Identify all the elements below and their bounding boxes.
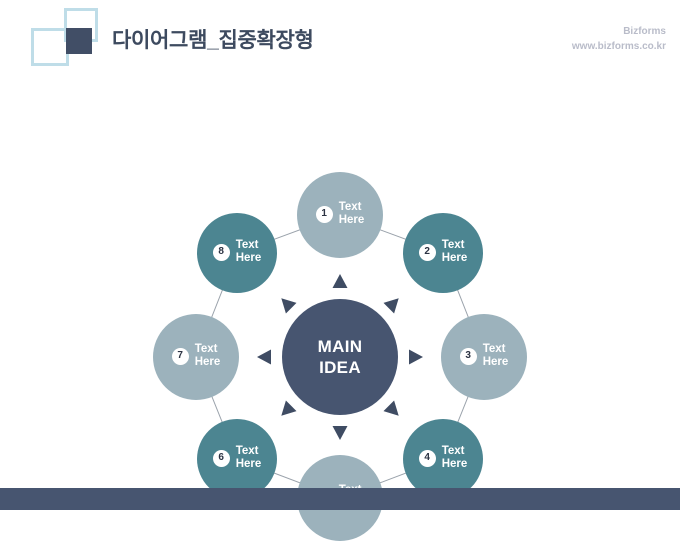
node-number-badge: 8 (213, 244, 230, 261)
node-label: Text Here (195, 343, 221, 369)
node-number-badge: 2 (419, 244, 436, 261)
outer-node-8[interactable]: 8Text Here (197, 213, 277, 293)
page-title: 다이어그램_집중확장형 (112, 24, 314, 54)
logo-square-solid (66, 28, 92, 54)
outer-node-content: 4Text Here (419, 445, 468, 471)
node-label: Text Here (442, 445, 468, 471)
outer-node-content: 8Text Here (213, 239, 262, 265)
node-number-badge: 1 (316, 206, 333, 223)
node-label: Text Here (236, 239, 262, 265)
outer-node-content: 6Text Here (213, 445, 262, 471)
outer-node-6[interactable]: 6Text Here (197, 419, 277, 499)
brand-name: Bizforms (572, 24, 666, 39)
center-arrows (0, 78, 680, 488)
node-label: Text Here (236, 445, 262, 471)
arrow-right-icon (409, 350, 423, 365)
page-header: 다이어그램_집중확장형 Bizforms www.bizforms.co.kr (0, 0, 680, 78)
node-number-badge: 6 (213, 450, 230, 467)
outer-node-content: 7Text Here (172, 343, 221, 369)
node-number-badge: 7 (172, 348, 189, 365)
arrow-up-right-icon (383, 293, 404, 314)
node-number-badge: 4 (419, 450, 436, 467)
outer-node-content: 1Text Here (316, 201, 365, 227)
outer-node-3[interactable]: 3Text Here (441, 314, 527, 400)
node-label: Text Here (339, 201, 365, 227)
center-node-label: MAIN IDEA (318, 336, 363, 379)
bizforms-logo (14, 8, 110, 66)
outer-node-content: 3Text Here (460, 343, 509, 369)
arrow-down-icon (333, 426, 348, 440)
diagram-stage: MAIN IDEA 1Text Here2Text Here3Text Here… (0, 78, 680, 488)
arrow-down-right-icon (383, 400, 404, 421)
node-number-badge: 3 (460, 348, 477, 365)
footer-bar (0, 488, 680, 510)
brand-block: Bizforms www.bizforms.co.kr (572, 24, 666, 54)
center-node-main-idea[interactable]: MAIN IDEA (282, 299, 398, 415)
arrow-down-left-icon (276, 400, 297, 421)
outer-node-4[interactable]: 4Text Here (403, 419, 483, 499)
arrow-up-left-icon (276, 293, 297, 314)
outer-node-2[interactable]: 2Text Here (403, 213, 483, 293)
brand-url[interactable]: www.bizforms.co.kr (572, 39, 666, 54)
outer-node-content: 2Text Here (419, 239, 468, 265)
outer-node-1[interactable]: 1Text Here (297, 172, 383, 258)
node-label: Text Here (442, 239, 468, 265)
node-label: Text Here (483, 343, 509, 369)
logo-square-outline-bottom (31, 28, 69, 66)
arrow-left-icon (257, 350, 271, 365)
arrow-up-icon (333, 274, 348, 288)
outer-node-7[interactable]: 7Text Here (153, 314, 239, 400)
